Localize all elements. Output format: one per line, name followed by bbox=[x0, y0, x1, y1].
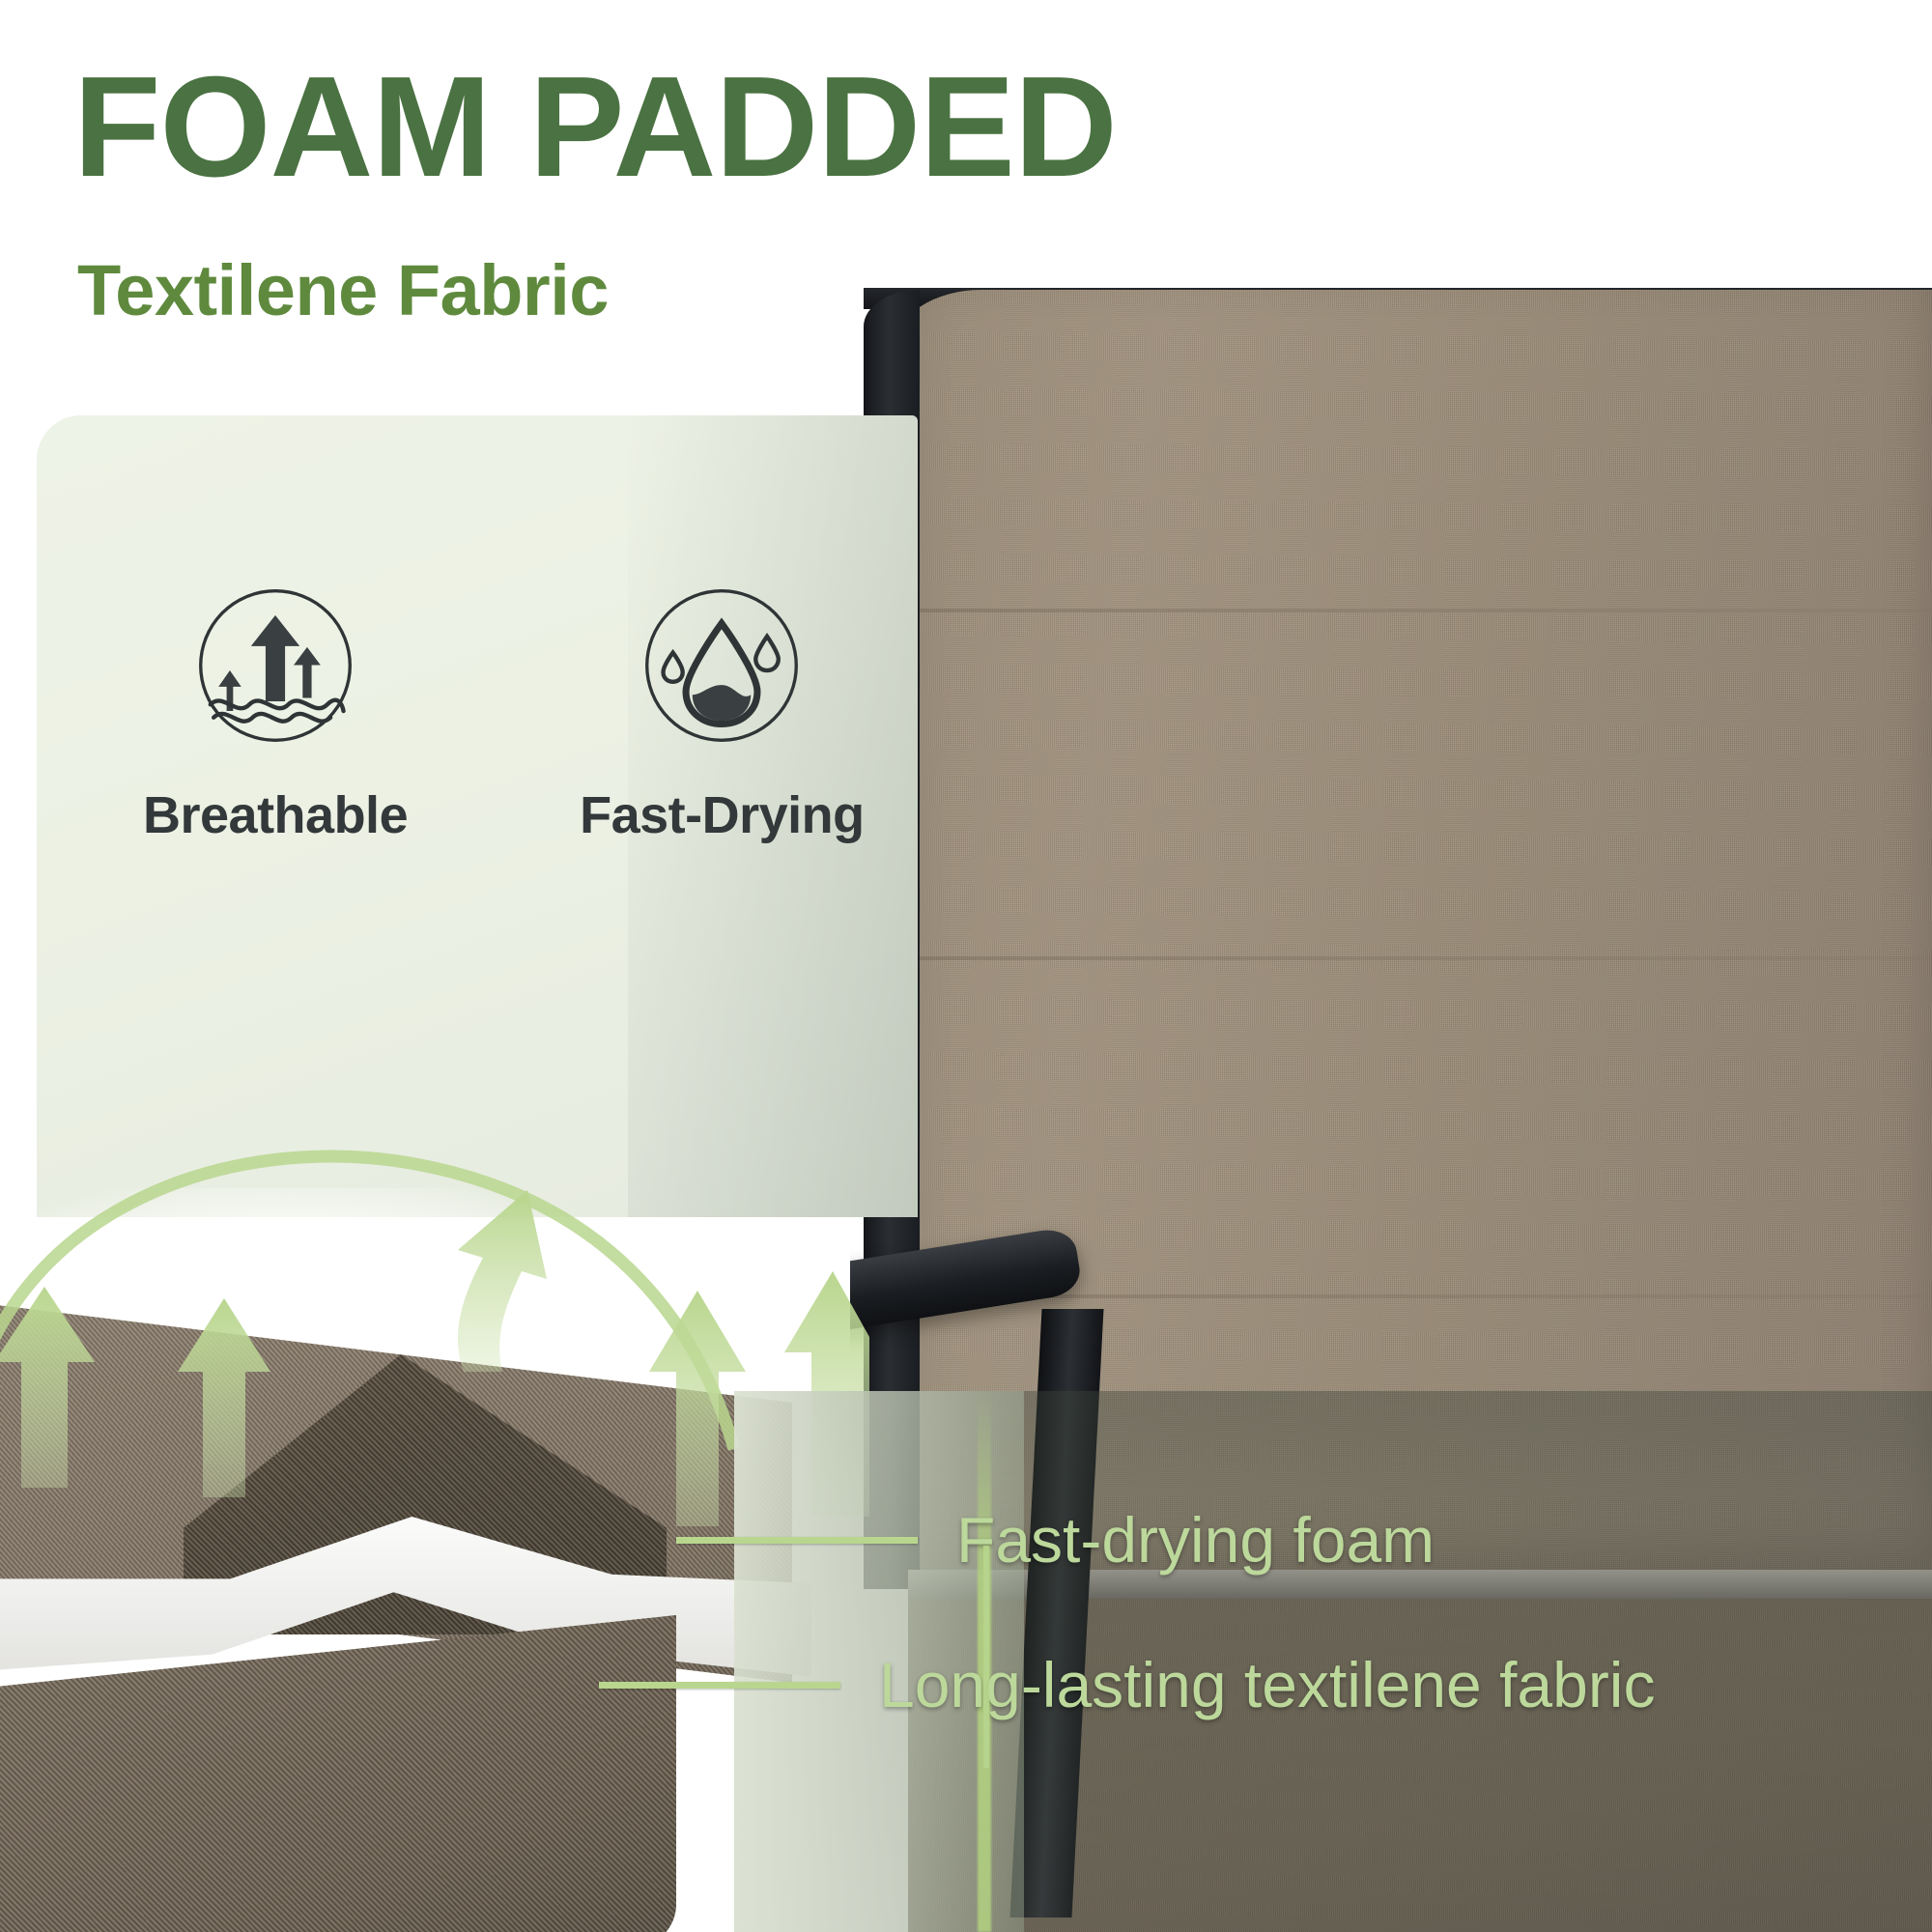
callout-fast-drying-foam: Fast-drying foam bbox=[676, 1503, 1435, 1577]
callout-long-lasting-fabric: Long-lasting textilene fabric bbox=[599, 1648, 1655, 1721]
callout-label: Fast-drying foam bbox=[956, 1503, 1435, 1577]
callout-label: Long-lasting textilene fabric bbox=[879, 1648, 1655, 1721]
page-subtitle: Textilene Fabric bbox=[77, 255, 609, 327]
infographic-canvas: Breathable Fast-Drying bbox=[0, 0, 1932, 1932]
page-title: FOAM PADDED bbox=[73, 56, 1117, 199]
callout-connector-line bbox=[599, 1682, 840, 1689]
callout-connector-line bbox=[676, 1537, 918, 1544]
callout-vertical-tick bbox=[983, 1546, 989, 1768]
